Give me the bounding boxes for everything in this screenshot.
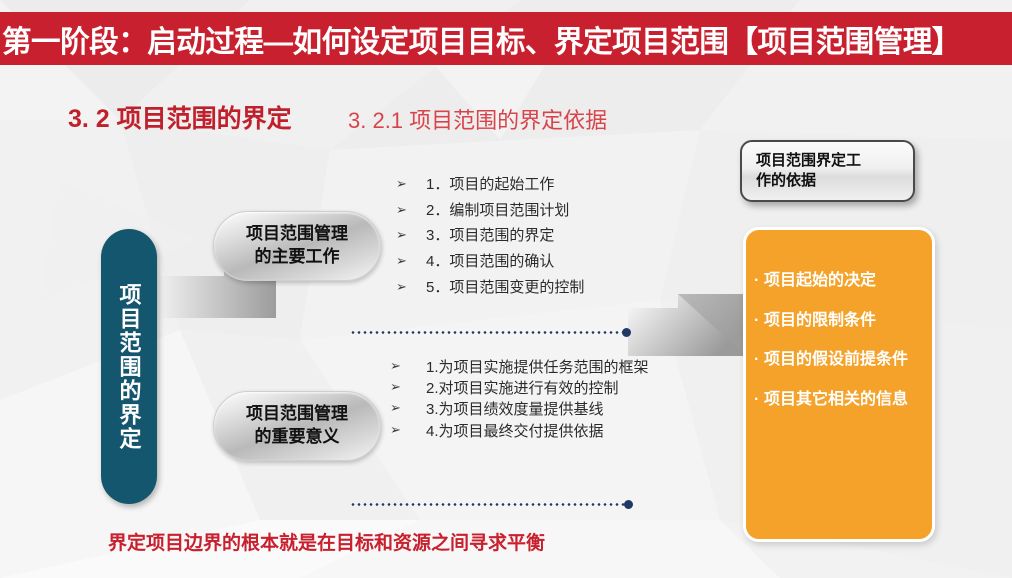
list-main-work: ➢ 1． 项目的起始工作 ➢ 2． 编制项目范围计划 ➢ 3． 项目范围的界定 … — [396, 176, 661, 304]
basis-header-box-label: 项目范围界定工 作的依据 — [742, 151, 861, 192]
list-item-number: 5． — [426, 279, 449, 297]
header-banner: 第一阶段：启动过程—如何设定项目目标、界定项目范围【项目范围管理】 — [0, 12, 1012, 65]
bullet-dot-icon: · — [754, 391, 764, 409]
bullet-arrow-icon: ➢ — [390, 422, 426, 437]
orange-list-item-text: 项目其它相关的信息 — [764, 391, 908, 409]
list-item-text: 编制项目范围计划 — [449, 202, 569, 220]
dotted-connector-lower — [350, 503, 628, 506]
list-item-number: 3． — [426, 227, 449, 245]
bullet-arrow-icon: ➢ — [390, 400, 426, 415]
list-item: ➢ 2. 对项目实施进行有效的控制 — [390, 379, 650, 398]
list-item: ➢ 1. 为项目实施提供任务范围的框架 — [390, 358, 650, 377]
orange-list-item-text: 项目起始的决定 — [764, 272, 876, 290]
list-item-number: 4. — [426, 422, 439, 441]
list-item: ➢ 5． 项目范围变更的控制 — [396, 279, 661, 297]
list-item: ➢ 1． 项目的起始工作 — [396, 176, 661, 194]
bullet-arrow-icon: ➢ — [396, 202, 426, 217]
orange-list-item-text: 项目的限制条件 — [764, 312, 876, 330]
dotted-connector-upper — [350, 331, 628, 334]
list-significance: ➢ 1. 为项目实施提供任务范围的框架 ➢ 2. 对项目实施进行有效的控制 ➢ … — [390, 358, 650, 443]
basis-orange-panel: · 项目起始的决定 · 项目的限制条件 · 项目的假设前提条件 · 项目其它相关… — [743, 227, 935, 542]
orange-list-item: · 项目起始的决定 — [754, 272, 932, 290]
basis-header-box: 项目范围界定工 作的依据 — [740, 140, 915, 202]
section-heading-main: 3. 2 项目范围的界定 — [68, 99, 292, 135]
header-title: 第一阶段：启动过程—如何设定项目目标、界定项目范围【项目范围管理】 — [0, 17, 961, 61]
bullet-dot-icon: · — [754, 272, 764, 290]
orange-list-item: · 项目其它相关的信息 — [754, 391, 932, 409]
list-item: ➢ 3. 为项目绩效度量提供基线 — [390, 400, 650, 419]
list-item-text: 项目的起始工作 — [449, 176, 554, 194]
capsule-main-work-label: 项目范围管理 的主要工作 — [246, 223, 348, 269]
list-item-number: 2． — [426, 202, 449, 220]
section-heading-sub: 3. 2.1 项目范围的界定依据 — [348, 103, 607, 135]
list-item-number: 1. — [426, 358, 439, 377]
capsule-significance-label: 项目范围管理 的重要意义 — [246, 403, 348, 449]
bullet-arrow-icon: ➢ — [396, 279, 426, 294]
list-item-number: 4． — [426, 253, 449, 271]
dotted-connector-lower-endpoint — [624, 500, 633, 509]
capsule-significance: 项目范围管理 的重要意义 — [213, 391, 381, 461]
list-item-number: 2. — [426, 379, 439, 398]
list-item-number: 3. — [426, 400, 439, 419]
bottom-caption: 界定项目边界的根本就是在目标和资源之间寻求平衡 — [108, 528, 545, 555]
list-item: ➢ 4. 为项目最终交付提供依据 — [390, 422, 650, 441]
bullet-dot-icon: · — [754, 312, 764, 330]
list-item-text: 为项目最终交付提供依据 — [439, 422, 604, 441]
list-item-text: 项目范围的确认 — [449, 253, 554, 271]
list-item: ➢ 2． 编制项目范围计划 — [396, 202, 661, 220]
orange-list-item-text: 项目的假设前提条件 — [764, 351, 908, 369]
list-item: ➢ 3． 项目范围的界定 — [396, 227, 661, 245]
list-item: ➢ 4． 项目范围的确认 — [396, 253, 661, 271]
bullet-arrow-icon: ➢ — [396, 227, 426, 242]
orange-list-item: · 项目的限制条件 — [754, 312, 932, 330]
list-item-text: 对项目实施进行有效的控制 — [439, 379, 619, 398]
orange-list-item: · 项目的假设前提条件 — [754, 351, 932, 369]
dotted-connector-upper-endpoint — [622, 328, 631, 337]
bullet-arrow-icon: ➢ — [390, 358, 426, 373]
list-item-text: 为项目实施提供任务范围的框架 — [439, 358, 649, 377]
bullet-arrow-icon: ➢ — [390, 379, 426, 394]
left-vertical-pill: 项目范围的界定 — [101, 229, 157, 504]
bullet-arrow-icon: ➢ — [396, 253, 426, 268]
list-item-text: 为项目绩效度量提供基线 — [439, 400, 604, 419]
list-item-text: 项目范围的界定 — [449, 227, 554, 245]
slide-canvas: 第一阶段：启动过程—如何设定项目目标、界定项目范围【项目范围管理】 3. 2 项… — [0, 0, 1012, 578]
bullet-arrow-icon: ➢ — [396, 176, 426, 191]
capsule-main-work: 项目范围管理 的主要工作 — [213, 211, 381, 281]
list-item-number: 1． — [426, 176, 449, 194]
left-vertical-pill-label: 项目范围的界定 — [117, 283, 140, 451]
bullet-dot-icon: · — [754, 351, 764, 369]
list-item-text: 项目范围变更的控制 — [449, 279, 584, 297]
